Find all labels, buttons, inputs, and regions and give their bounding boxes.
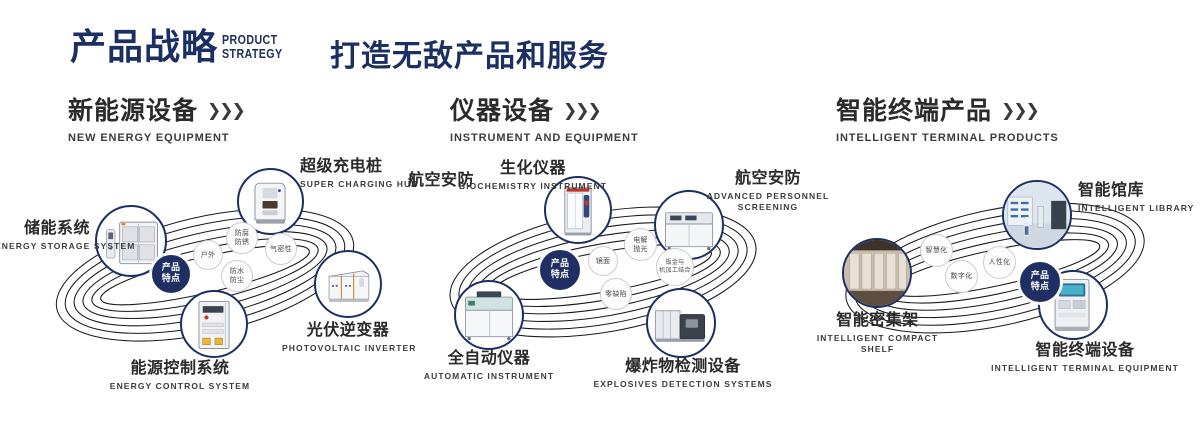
section-title-cn: 新能源设备❯❯❯ — [68, 96, 244, 126]
chevron-right-icon: ❯❯❯ — [563, 96, 600, 126]
intelligent-library-icon — [1004, 182, 1070, 248]
feature-bubble-0: 智慧化 — [920, 234, 953, 267]
product-node-energy-control[interactable] — [180, 290, 248, 358]
product-label-intelligent-library: 智能馆库 INTELLIGENT LIBRARY — [1078, 180, 1194, 214]
feature-bubble-2: 防水 防尘 — [221, 260, 253, 292]
product-node-automatic-instrument[interactable] — [454, 280, 524, 350]
product-node-photovoltaic-inverter[interactable] — [314, 250, 382, 318]
section-title-en: INSTRUMENT AND EQUIPMENT — [450, 132, 639, 144]
core-bubble-product-features: 产品 特点 — [1020, 262, 1060, 302]
core-bubble-label: 产品 特点 — [162, 263, 181, 285]
feature-bubble-1: 防腐 防锈 — [226, 222, 258, 254]
core-bubble-product-features: 产品 特点 — [540, 250, 580, 290]
feature-bubble-2: 钣金与 机加工结合 — [656, 248, 694, 286]
core-bubble-label: 产品 特点 — [551, 259, 570, 281]
section-heading-instrument: 仪器设备❯❯❯ INSTRUMENT AND EQUIPMENT — [450, 96, 639, 144]
section-title-text: 智能终端产品 — [836, 96, 992, 125]
section-title-en: NEW ENERGY EQUIPMENT — [68, 132, 244, 144]
automatic-instrument-icon — [456, 282, 522, 348]
product-label-explosives-detection: 爆炸物检测设备 EXPLOSIVES DETECTION SYSTEMS — [593, 356, 773, 390]
page-title-cn: 产品战略 — [70, 26, 218, 70]
section-title-en: INTELLIGENT TERMINAL PRODUCTS — [836, 132, 1059, 144]
diagram-new-energy: 储能系统 ENERGY STORAGE SYSTEM 超级充电桩 SUPER C… — [0, 150, 410, 410]
feature-bubble-3: 气密性 — [265, 233, 297, 265]
page-header: 产品战略 PRODUCT STRATEGY 打造无敌产品和服务 — [0, 0, 1200, 88]
compact-shelf-icon — [844, 240, 910, 306]
feature-bubble-3: 零缺陷 — [600, 278, 632, 310]
energy-control-cabinet-icon — [182, 292, 246, 356]
core-bubble-label: 产品 特点 — [1031, 271, 1050, 293]
page-title-en: PRODUCT STRATEGY — [222, 33, 283, 61]
core-bubble-product-features: 产品 特点 — [152, 255, 190, 293]
section-heading-intelligent-terminal: 智能终端产品❯❯❯ INTELLIGENT TERMINAL PRODUCTS — [836, 96, 1059, 144]
section-title-text: 新能源设备 — [68, 96, 198, 125]
feature-bubble-1: 数字化 — [945, 260, 978, 293]
page-title-en-line2: STRATEGY — [222, 47, 283, 61]
product-label-automatic-instrument: 全自动仪器 AUTOMATIC INSTRUMENT — [418, 348, 560, 382]
product-label-photovoltaic-inverter: 光伏逆变器 PHOTOVOLTAIC INVERTER — [282, 320, 414, 354]
product-label-energy-control: 能源控制系统 ENERGY CONTROL SYSTEM — [80, 358, 280, 392]
feature-bubble-1: 电解 抛光 — [624, 228, 657, 261]
product-label-biochemistry-instrument: 生化仪器 BIOCHEMISTRY INSTRUMENT — [458, 158, 608, 192]
chevron-right-icon: ❯❯❯ — [207, 96, 244, 126]
product-label-energy-storage: 储能系统 ENERGY STORAGE SYSTEM — [0, 218, 90, 252]
page-title-en-line1: PRODUCT — [222, 33, 283, 47]
product-node-compact-shelf[interactable] — [842, 238, 912, 308]
feature-bubble-0: 户外 — [193, 240, 223, 270]
feature-bubble-2: 人性化 — [983, 246, 1016, 279]
chevron-right-icon: ❯❯❯ — [1001, 96, 1038, 126]
feature-bubble-0: 镜面 — [588, 246, 618, 276]
product-node-explosives-detection[interactable] — [646, 288, 716, 358]
product-label-compact-shelf: 智能密集架 INTELLIGENT COMPACT SHELF — [805, 310, 950, 355]
product-label-intelligent-terminal-equipment: 智能终端设备 INTELLIGENT TERMINAL EQUIPMENT — [985, 340, 1185, 374]
section-heading-new-energy: 新能源设备❯❯❯ NEW ENERGY EQUIPMENT — [68, 96, 244, 144]
diagram-instrument: 航空安防 生化仪器 BIOCHEMISTRY INSTRUMENT — [398, 150, 808, 410]
infographic-page: 产品战略 PRODUCT STRATEGY 打造无敌产品和服务 新能源设备❯❯❯… — [0, 0, 1200, 422]
section-title-cn: 智能终端产品❯❯❯ — [836, 96, 1059, 126]
explosives-detection-icon — [648, 290, 714, 356]
section-title-cn: 仪器设备❯❯❯ — [450, 96, 639, 126]
photovoltaic-inverter-icon — [316, 252, 380, 316]
product-node-intelligent-library[interactable] — [1002, 180, 1072, 250]
diagram-intelligent-terminal: 智能馆库 INTELLIGENT LIBRARY 智能密集架 IN — [790, 150, 1200, 410]
page-subtitle: 打造无敌产品和服务 — [330, 31, 609, 75]
section-title-text: 仪器设备 — [450, 96, 554, 125]
